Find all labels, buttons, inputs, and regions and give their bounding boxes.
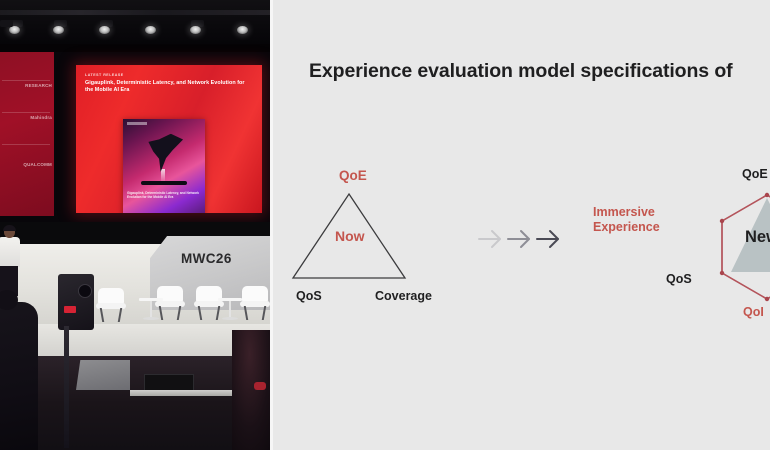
hexagon-vertex-top [765, 193, 769, 197]
hexagon-side-label-line-1: Immersive [593, 205, 678, 220]
hexagon-bottom-label: QoI [743, 305, 764, 319]
ceiling-light-icon [190, 26, 201, 34]
stage-chair [240, 286, 270, 320]
hexagon-side-label-line-2: Experience [593, 220, 678, 235]
led-side-panel-line-1: RESEARCH [2, 83, 52, 88]
led-side-panel-line-3: QUALCOMM [2, 162, 52, 167]
foreground-audience [232, 330, 270, 450]
conference-stage-photo: RESEARCH Mahindra QUALCOMM LATEST RELEAS… [0, 0, 270, 450]
led-side-panel-line-2: Mahindra [2, 115, 52, 120]
page-title: Experience evaluation model specificatio… [309, 60, 770, 83]
screenshot-root: RESEARCH Mahindra QUALCOMM LATEST RELEAS… [0, 0, 770, 450]
hexagon-vertex-bottom [765, 297, 769, 301]
hexagon-left-label: QoS [666, 272, 692, 286]
ceiling-light-icon [9, 26, 20, 34]
ceiling-light-icon [145, 26, 156, 34]
triangle-center-label: Now [335, 228, 365, 244]
stage-riser-block [76, 360, 130, 390]
stage-side-table [139, 298, 163, 320]
hexagon-top-label: QoE [742, 167, 768, 181]
led-slide-kicker: LATEST RELEASE [85, 73, 124, 77]
led-side-panel: RESEARCH Mahindra QUALCOMM [0, 52, 54, 216]
camera-tally-light [64, 306, 76, 313]
chevron-right-icon-dark [537, 231, 558, 247]
mwc-sign-label: MWC26 [181, 251, 232, 266]
triangle-bottom-right-label: Coverage [375, 289, 432, 303]
presentation-slide: Experience evaluation model specificatio… [273, 0, 770, 450]
ceiling-light-icon [237, 26, 248, 34]
new-model-hexagon-diagram: QoE QoS QoI Immersive Experience New [593, 160, 770, 335]
current-model-triangle-diagram: QoE Now QoS Coverage [283, 160, 473, 320]
stage-side-table [218, 298, 242, 320]
hexagon-center-label: New [745, 228, 770, 247]
cover-top-rule [127, 122, 147, 125]
cover-title-text: Gigauplink, Deterministic Latency, and N… [127, 191, 201, 199]
led-video-wall: RESEARCH Mahindra QUALCOMM LATEST RELEAS… [0, 52, 270, 222]
chevron-right-icon-medium [508, 231, 529, 247]
camera-tripod-arm [64, 326, 69, 448]
led-slide-headline: Gigauplink, Deterministic Latency, and N… [85, 80, 253, 94]
transition-arrows [473, 222, 573, 256]
cover-plinth-graphic [141, 181, 187, 185]
lighting-truss [0, 10, 270, 15]
hexagon-vertex-lower-left [720, 271, 724, 275]
ceiling-light-fixture [0, 20, 13, 27]
whitepaper-cover-art: Gigauplink, Deterministic Latency, and N… [123, 119, 205, 213]
triangle-bottom-left-label: QoS [296, 289, 322, 303]
hexagon-side-label: Immersive Experience [593, 205, 678, 235]
ceiling-light-icon [99, 26, 110, 34]
ceiling-light-icon [53, 26, 64, 34]
venue-ceiling [0, 0, 270, 44]
chevron-right-icon-light [479, 231, 500, 247]
camera-operator [0, 272, 50, 450]
camera-lens-icon [78, 284, 92, 298]
stage-chair [96, 288, 126, 322]
arrow-group-icon [473, 222, 573, 256]
triangle-apex-label: QoE [339, 168, 367, 183]
video-camera-rig [58, 274, 94, 330]
hexagon-vertex-upper-left [720, 219, 724, 223]
led-main-slide: LATEST RELEASE Gigauplink, Deterministic… [76, 65, 262, 213]
